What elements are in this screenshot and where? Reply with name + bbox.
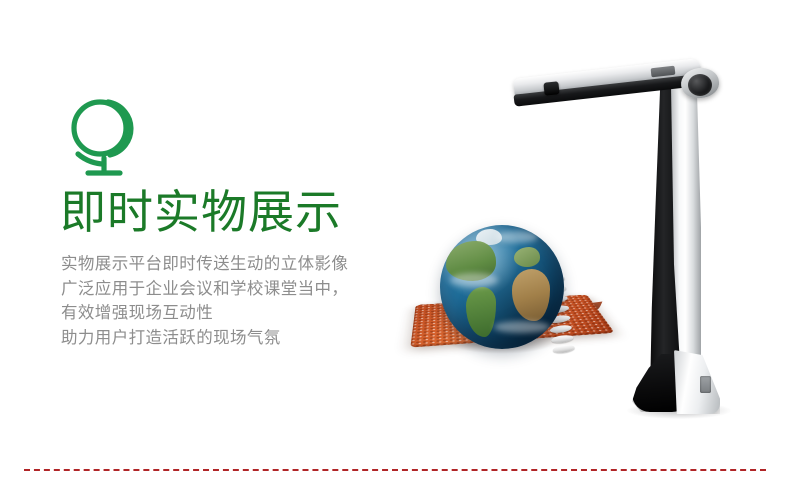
base-port xyxy=(700,376,711,393)
description-line-4: 助力用户打造活跃的现场气氛 xyxy=(61,326,348,351)
bottom-dashed-rule xyxy=(24,469,766,471)
description-line-3: 有效增强现场互动性 xyxy=(61,301,348,326)
document-camera-visualizer xyxy=(395,28,775,418)
description-line-1: 实物展示平台即时传送生动的立体影像 xyxy=(61,252,348,277)
slide-root: 即时实物展示 实物展示平台即时传送生动的立体影像 广泛应用于企业会议和学校课堂当… xyxy=(0,0,790,478)
globe-on-stand-icon xyxy=(60,96,160,178)
arm-hinge-cap xyxy=(688,74,712,96)
page-title: 即时实物展示 xyxy=(60,186,342,238)
camera-lens xyxy=(543,81,559,95)
description-line-2: 广泛应用于企业会议和学校课堂当中， xyxy=(61,277,348,302)
feature-description: 实物展示平台即时传送生动的立体影像 广泛应用于企业会议和学校课堂当中， 有效增强… xyxy=(61,252,348,350)
device-base-silver-panel xyxy=(674,350,720,414)
product-image xyxy=(395,28,775,418)
